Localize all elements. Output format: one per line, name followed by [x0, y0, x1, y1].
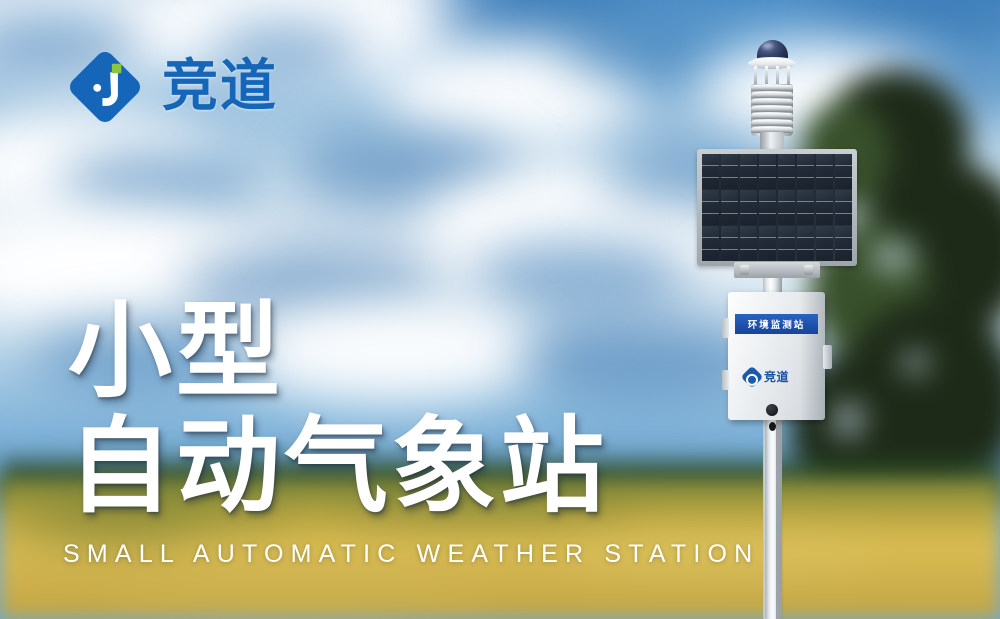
sensor-posts [752, 66, 792, 86]
headline-block: 小型 自动气象站 [68, 298, 708, 520]
weather-station-banner: 环境监测站 竞道 [0, 0, 1000, 619]
control-box-banner-label: 环境监测站 [735, 314, 818, 334]
brand-logo[interactable]: 竞道 [62, 44, 278, 130]
headline-line-2: 自动气象站 [68, 413, 708, 520]
radiation-shield [751, 84, 793, 136]
headline-line-1: 小型 [68, 298, 708, 405]
shield-neck [760, 132, 784, 150]
control-box-logo-text: 竞道 [764, 371, 789, 383]
jingdao-diamond-logo-icon [62, 44, 148, 130]
pole-fastener [769, 422, 776, 431]
control-box-connector [766, 404, 778, 416]
control-box-bracket-left-top [722, 318, 729, 338]
brand-name: 竞道 [162, 59, 278, 115]
control-box-logo: 竞道 [744, 366, 810, 388]
control-box-shading [800, 292, 825, 420]
pole-shadow [776, 420, 784, 619]
jingdao-diamond-logo-icon [741, 366, 764, 389]
control-box-bracket-left-bottom [722, 370, 729, 390]
solar-panel-cells [702, 154, 852, 261]
control-box-bracket-right [823, 345, 832, 369]
solar-panel-mount [734, 262, 820, 278]
subtitle: SMALL AUTOMATIC WEATHER STATION [63, 540, 759, 569]
solar-panel [697, 149, 857, 266]
